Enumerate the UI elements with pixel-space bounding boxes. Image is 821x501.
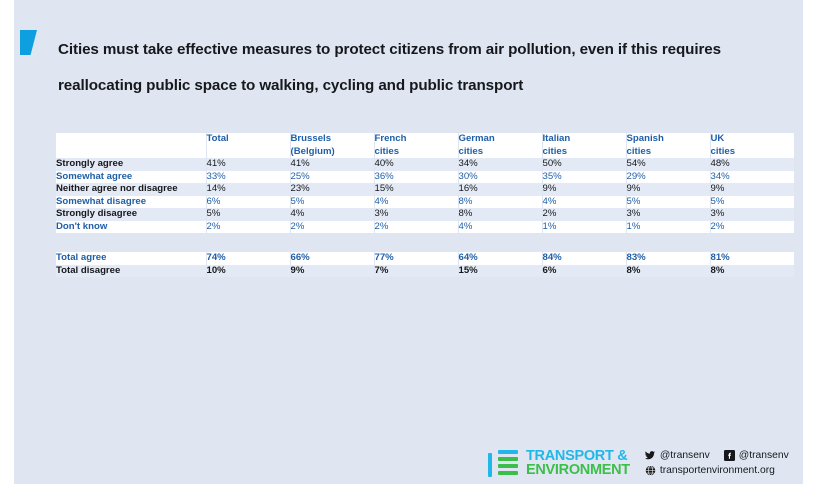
row-value: 15% [374, 183, 458, 196]
row-value: 50% [542, 158, 626, 171]
brand-wordmark: TRANSPORT & ENVIRONMENT [526, 449, 630, 477]
row-value: 35% [542, 171, 626, 184]
row-value: 29% [626, 171, 710, 184]
website-link[interactable]: transportenvironment.org [660, 463, 775, 478]
row-value: 4% [374, 196, 458, 209]
header-line2: cities [543, 146, 568, 157]
row-label: Strongly disagree [56, 208, 206, 221]
row-value: 66% [290, 252, 374, 265]
table-header-cell-italian: Italian cities [542, 133, 626, 158]
table-header-cell-german: German cities [458, 133, 542, 158]
row-value: 14% [206, 183, 290, 196]
header-line2: cities [711, 146, 736, 157]
table-header-cell-french: French cities [374, 133, 458, 158]
row-value: 5% [206, 208, 290, 221]
twitter-icon [644, 449, 657, 462]
table-row: Total agree 74% 66% 77% 64% 84% 83% 81% [56, 252, 794, 265]
header-line2: cities [627, 146, 652, 157]
header-line1: UK [711, 133, 725, 144]
results-table: Total Brussels (Belgium) French cities G… [56, 133, 794, 277]
row-value: 9% [290, 265, 374, 278]
table-row: Total disagree 10% 9% 7% 15% 6% 8% 8% [56, 265, 794, 278]
row-value: 81% [710, 252, 794, 265]
row-value: 77% [374, 252, 458, 265]
row-value: 16% [458, 183, 542, 196]
row-value: 9% [710, 183, 794, 196]
row-value: 1% [626, 221, 710, 234]
row-value: 2% [374, 221, 458, 234]
header-line1: French [375, 133, 407, 144]
row-value: 41% [206, 158, 290, 171]
row-value: 34% [710, 171, 794, 184]
row-value: 8% [458, 208, 542, 221]
row-value: 2% [206, 221, 290, 234]
row-value: 15% [458, 265, 542, 278]
row-value: 3% [710, 208, 794, 221]
row-value: 74% [206, 252, 290, 265]
table-spacer-row [56, 233, 794, 252]
row-value: 48% [710, 158, 794, 171]
transport-environment-logo-icon [486, 450, 520, 477]
table-header-cell-blank [56, 133, 206, 158]
header-line1: German [459, 133, 495, 144]
row-value: 54% [626, 158, 710, 171]
row-value: 8% [458, 196, 542, 209]
row-value: 6% [542, 265, 626, 278]
row-value: 30% [458, 171, 542, 184]
globe-icon [644, 464, 657, 477]
row-value: 23% [290, 183, 374, 196]
row-value: 8% [710, 265, 794, 278]
row-value: 3% [626, 208, 710, 221]
row-value: 8% [626, 265, 710, 278]
footer: TRANSPORT & ENVIRONMENT @transenv @trans… [486, 446, 789, 480]
row-value: 84% [542, 252, 626, 265]
table-row: Don't know 2% 2% 2% 4% 1% 1% 2% [56, 221, 794, 234]
row-label: Somewhat agree [56, 171, 206, 184]
table-spacer-cell [56, 233, 794, 252]
table-header-cell-spanish: Spanish cities [626, 133, 710, 158]
row-label: Strongly agree [56, 158, 206, 171]
row-value: 41% [290, 158, 374, 171]
twitter-handle[interactable]: @transenv [660, 448, 710, 463]
social-links: @transenv @transenv transportenvironment… [644, 448, 789, 478]
accent-flag-icon [20, 30, 37, 55]
row-value: 5% [626, 196, 710, 209]
table-row: Somewhat disagree 6% 5% 4% 8% 4% 5% 5% [56, 196, 794, 209]
header-line2: cities [375, 146, 400, 157]
row-value: 83% [626, 252, 710, 265]
row-value: 2% [542, 208, 626, 221]
row-value: 9% [626, 183, 710, 196]
table-row: Strongly agree 41% 41% 40% 34% 50% 54% 4… [56, 158, 794, 171]
row-value: 5% [290, 196, 374, 209]
row-value: 1% [542, 221, 626, 234]
table-header-cell-total: Total [206, 133, 290, 158]
slide-canvas: Cities must take effective measures to p… [14, 0, 803, 484]
brand-line-environment: ENVIRONMENT [526, 463, 630, 477]
row-label: Neither agree nor disagree [56, 183, 206, 196]
row-value: 64% [458, 252, 542, 265]
header-line2: cities [459, 146, 484, 157]
row-value: 10% [206, 265, 290, 278]
row-value: 25% [290, 171, 374, 184]
row-value: 2% [710, 221, 794, 234]
row-value: 9% [542, 183, 626, 196]
header-line1: Brussels [291, 133, 332, 144]
row-label: Total agree [56, 252, 206, 265]
row-label: Total disagree [56, 265, 206, 278]
page-title: Cities must take effective measures to p… [58, 32, 778, 104]
table-row: Strongly disagree 5% 4% 3% 8% 2% 3% 3% [56, 208, 794, 221]
table-row: Neither agree nor disagree 14% 23% 15% 1… [56, 183, 794, 196]
row-label: Don't know [56, 221, 206, 234]
header-line1: Spanish [627, 133, 664, 144]
row-value: 33% [206, 171, 290, 184]
table-header-row: Total Brussels (Belgium) French cities G… [56, 133, 794, 158]
header-line1: Total [207, 133, 229, 144]
row-value: 4% [458, 221, 542, 234]
row-value: 2% [290, 221, 374, 234]
row-value: 4% [290, 208, 374, 221]
row-value: 40% [374, 158, 458, 171]
row-value: 4% [542, 196, 626, 209]
header-line1: Italian [543, 133, 571, 144]
row-value: 36% [374, 171, 458, 184]
header-line2: (Belgium) [291, 146, 335, 157]
row-value: 34% [458, 158, 542, 171]
brand-line-transport: TRANSPORT & [526, 449, 630, 463]
row-value: 6% [206, 196, 290, 209]
row-value: 7% [374, 265, 458, 278]
facebook-handle[interactable]: @transenv [739, 448, 789, 463]
facebook-icon [723, 449, 736, 462]
row-label: Somewhat disagree [56, 196, 206, 209]
row-value: 3% [374, 208, 458, 221]
row-value: 5% [710, 196, 794, 209]
table-row: Somewhat agree 33% 25% 36% 30% 35% 29% 3… [56, 171, 794, 184]
table-header-cell-uk: UK cities [710, 133, 794, 158]
table-header-cell-brussels: Brussels (Belgium) [290, 133, 374, 158]
